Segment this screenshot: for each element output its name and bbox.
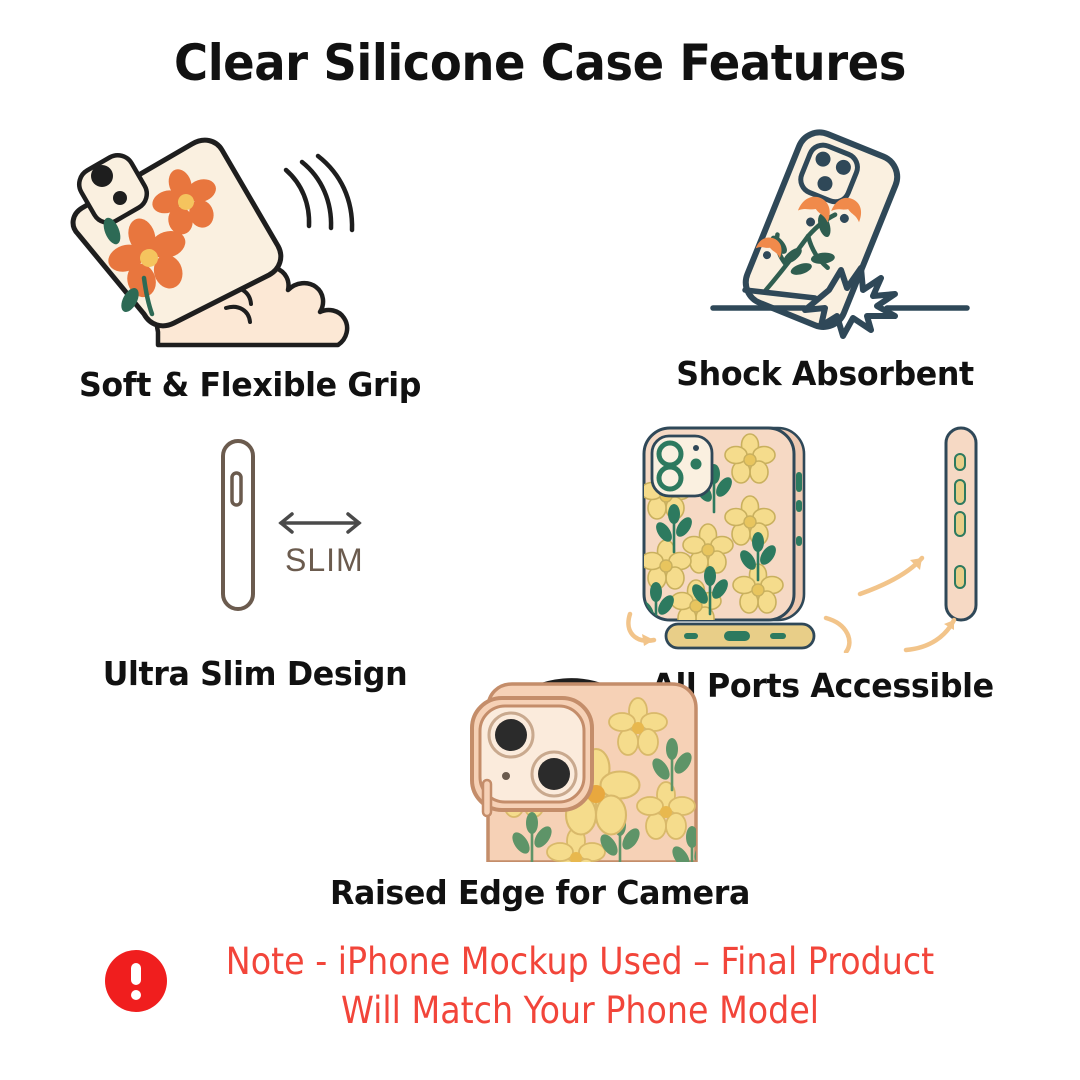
note-banner: Note - iPhone Mockup Used – Final Produc… xyxy=(0,938,1080,1036)
feature-soft-flexible-grip: Soft & Flexible Grip xyxy=(40,118,460,404)
feature-raised-edge-for-camera: Raised Edge for Camera xyxy=(280,662,800,912)
note-text: Note - iPhone Mockup Used – Final Produc… xyxy=(225,938,936,1036)
phone-case-back-side-and-bottom-edge-illustration xyxy=(610,418,1035,658)
infographic-page: Clear Silicone Case Features xyxy=(0,0,1080,1080)
feature-label: Soft & Flexible Grip xyxy=(48,365,451,404)
feature-label: Shock Absorbent xyxy=(623,354,1026,393)
feature-label: Raised Edge for Camera xyxy=(290,873,789,912)
phone-case-raised-camera-bezel-illustration xyxy=(280,662,800,867)
feature-shock-absorbent: Shock Absorbent xyxy=(615,118,1035,393)
hand-holding-flexible-phone-case-illustration xyxy=(40,118,460,353)
phone-case-dropping-impact-illustration xyxy=(615,118,1035,348)
slim-annotation: SLIM xyxy=(285,542,364,578)
feature-ultra-slim-design: SLIM Ultra Slim Design xyxy=(45,425,465,693)
page-title: Clear Silicone Case Features xyxy=(38,34,1042,92)
exclamation-circle-icon xyxy=(105,950,167,1012)
phone-side-profile-width-arrow-illustration: SLIM xyxy=(45,425,465,630)
